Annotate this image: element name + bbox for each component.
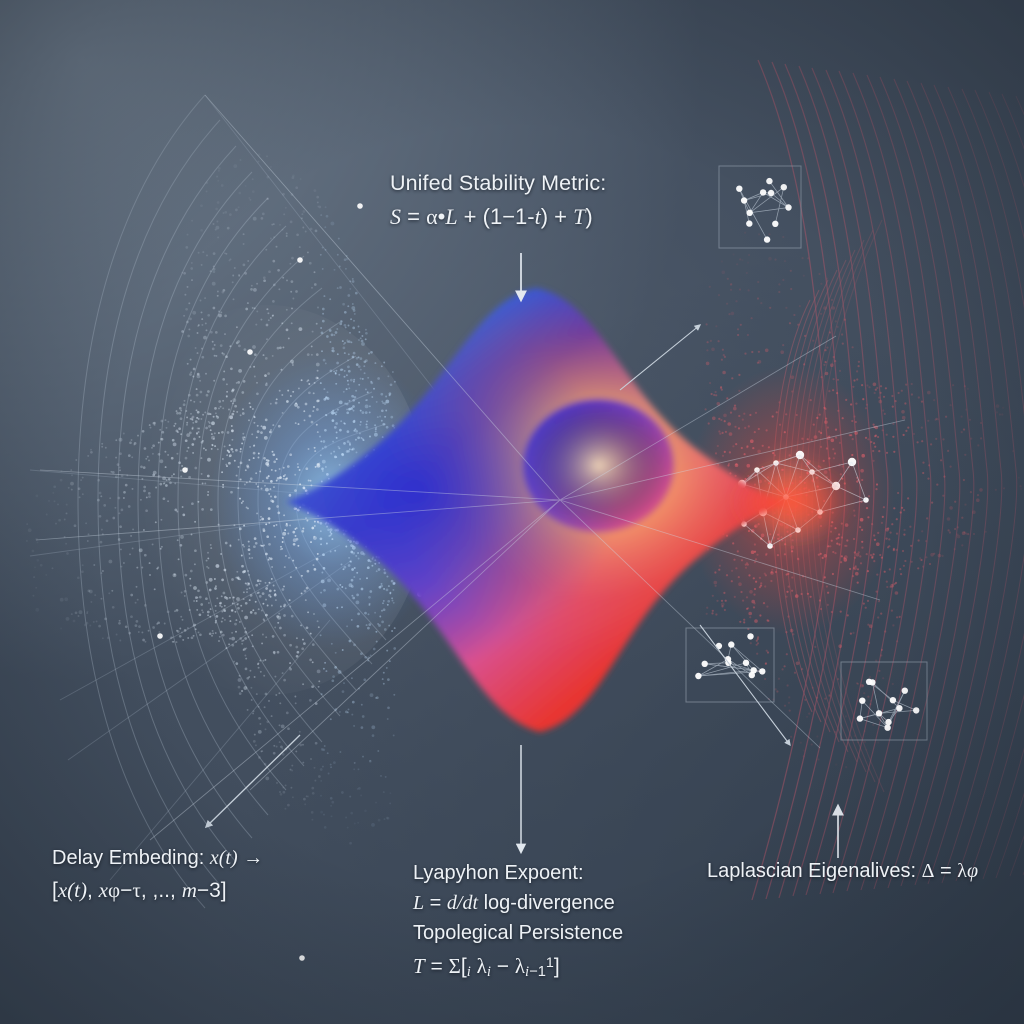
unified-formula: S = α•L + (1−1-t) + T) xyxy=(390,203,606,232)
delay-title: Delay Embeding: x(t) → xyxy=(52,845,263,871)
callout-laplacian-eigenvalues: Laplascian Eigenalives: Δ = λφ xyxy=(707,858,978,884)
persistence-formula: T = Σ[i λi − λi−11] xyxy=(413,953,623,982)
laplacian-text: Laplascian Eigenalives: Δ = λφ xyxy=(707,858,978,884)
unified-title: Unifed Stability Metric: xyxy=(390,170,606,198)
delay-formula: [x(t), xφ−τ, ,.., m−3] xyxy=(52,877,263,904)
callout-unified-stability-metric: Unifed Stability Metric: S = α•L + (1−1-… xyxy=(390,170,606,232)
callout-lyapunov-exponent: Lyapyhon Expoent: L = d/dt log-divergenc… xyxy=(413,860,623,982)
lyapunov-title: Lyapyhon Expoent: xyxy=(413,860,623,886)
persistence-title: Topolegical Persistence xyxy=(413,920,623,946)
lyapunov-formula: L = d/dt log-divergence xyxy=(413,890,623,916)
diagram-canvas: Unifed Stability Metric: S = α•L + (1−1-… xyxy=(0,0,1024,1024)
callout-delay-embedding: Delay Embeding: x(t) → [x(t), xφ−τ, ,..,… xyxy=(52,845,263,904)
